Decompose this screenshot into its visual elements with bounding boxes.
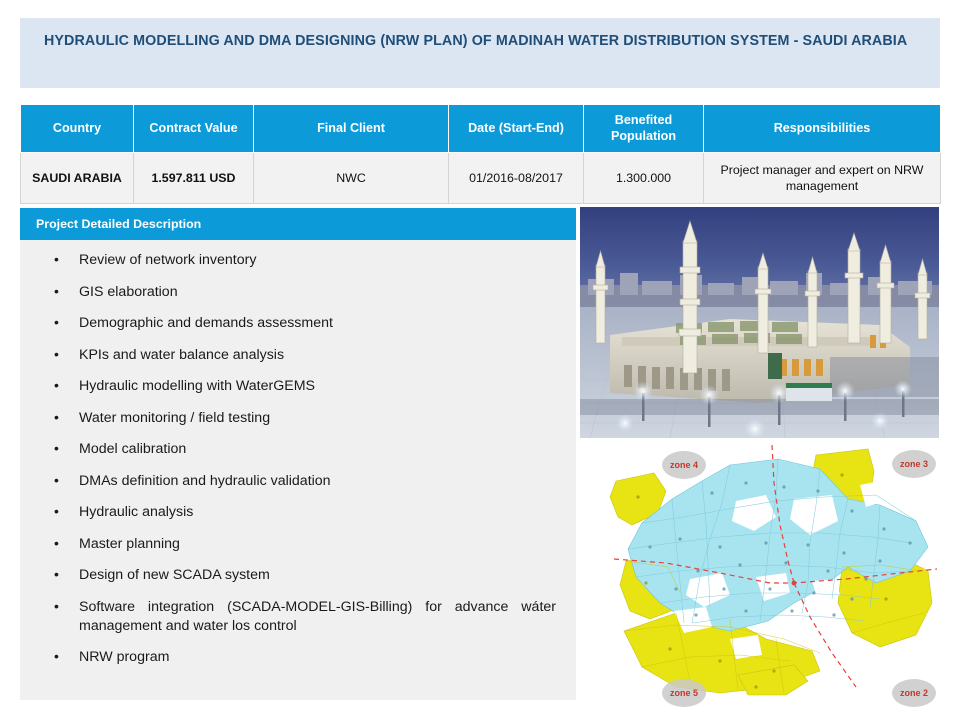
- description-bullet-list: Review of network inventoryGIS elaborati…: [20, 240, 576, 667]
- zone-badge-3: zone 3: [892, 450, 936, 478]
- column-header-contract-value: Contract Value: [134, 105, 254, 153]
- page-title: HYDRAULIC MODELLING AND DMA DESIGNING (N…: [44, 30, 918, 52]
- description-bullet-item: Model calibration: [34, 440, 562, 459]
- zone-badge-2: zone 2: [892, 679, 936, 707]
- column-header-responsibilities: Responsibilities: [704, 105, 941, 153]
- cell-contract-value: 1.597.811 USD: [134, 153, 254, 204]
- table-row: SAUDI ARABIA 1.597.811 USD NWC 01/2016-0…: [21, 153, 941, 204]
- dma-zone-map: zone 4 zone 3 zone 5 zone 2: [580, 443, 939, 715]
- table-header-row: Country Contract Value Final Client Date…: [21, 105, 941, 153]
- description-bullet-item: Hydraulic analysis: [34, 503, 562, 522]
- column-header-country: Country: [21, 105, 134, 153]
- zone-label-5: zone 5: [670, 688, 698, 698]
- madinah-mosque-photo: [580, 207, 939, 438]
- description-header: Project Detailed Description: [20, 208, 576, 240]
- description-bullet-item: Design of new SCADA system: [34, 566, 562, 585]
- description-bullet-item: Review of network inventory: [34, 251, 562, 270]
- zone-label-4: zone 4: [670, 460, 698, 470]
- description-bullet-item: Water monitoring / field testing: [34, 409, 562, 428]
- zone-badge-5: zone 5: [662, 679, 706, 707]
- column-header-date: Date (Start-End): [449, 105, 584, 153]
- cell-final-client: NWC: [254, 153, 449, 204]
- project-description-panel: Project Detailed Description Review of n…: [20, 208, 576, 700]
- description-bullet-item: Software integration (SCADA-MODEL-GIS-Bi…: [34, 598, 562, 636]
- cell-date: 01/2016-08/2017: [449, 153, 584, 204]
- cell-benefited-population: 1.300.000: [584, 153, 704, 204]
- column-header-final-client: Final Client: [254, 105, 449, 153]
- description-bullet-item: Hydraulic modelling with WaterGEMS: [34, 377, 562, 396]
- zone-label-3: zone 3: [900, 459, 928, 469]
- description-bullet-item: Demographic and demands assessment: [34, 314, 562, 333]
- description-bullet-item: KPIs and water balance analysis: [34, 346, 562, 365]
- cell-responsibilities: Project manager and expert on NRW manage…: [704, 153, 941, 204]
- cell-country: SAUDI ARABIA: [21, 153, 134, 204]
- column-header-benefited-population: Benefited Population: [584, 105, 704, 153]
- description-bullet-item: GIS elaboration: [34, 283, 562, 302]
- zone-label-2: zone 2: [900, 688, 928, 698]
- zone-badge-4: zone 4: [662, 451, 706, 479]
- description-bullet-item: NRW program: [34, 648, 562, 667]
- description-bullet-item: DMAs definition and hydraulic validation: [34, 472, 562, 491]
- slide-title-banner: HYDRAULIC MODELLING AND DMA DESIGNING (N…: [20, 18, 940, 88]
- project-info-table: Country Contract Value Final Client Date…: [20, 104, 941, 204]
- description-bullet-item: Master planning: [34, 535, 562, 554]
